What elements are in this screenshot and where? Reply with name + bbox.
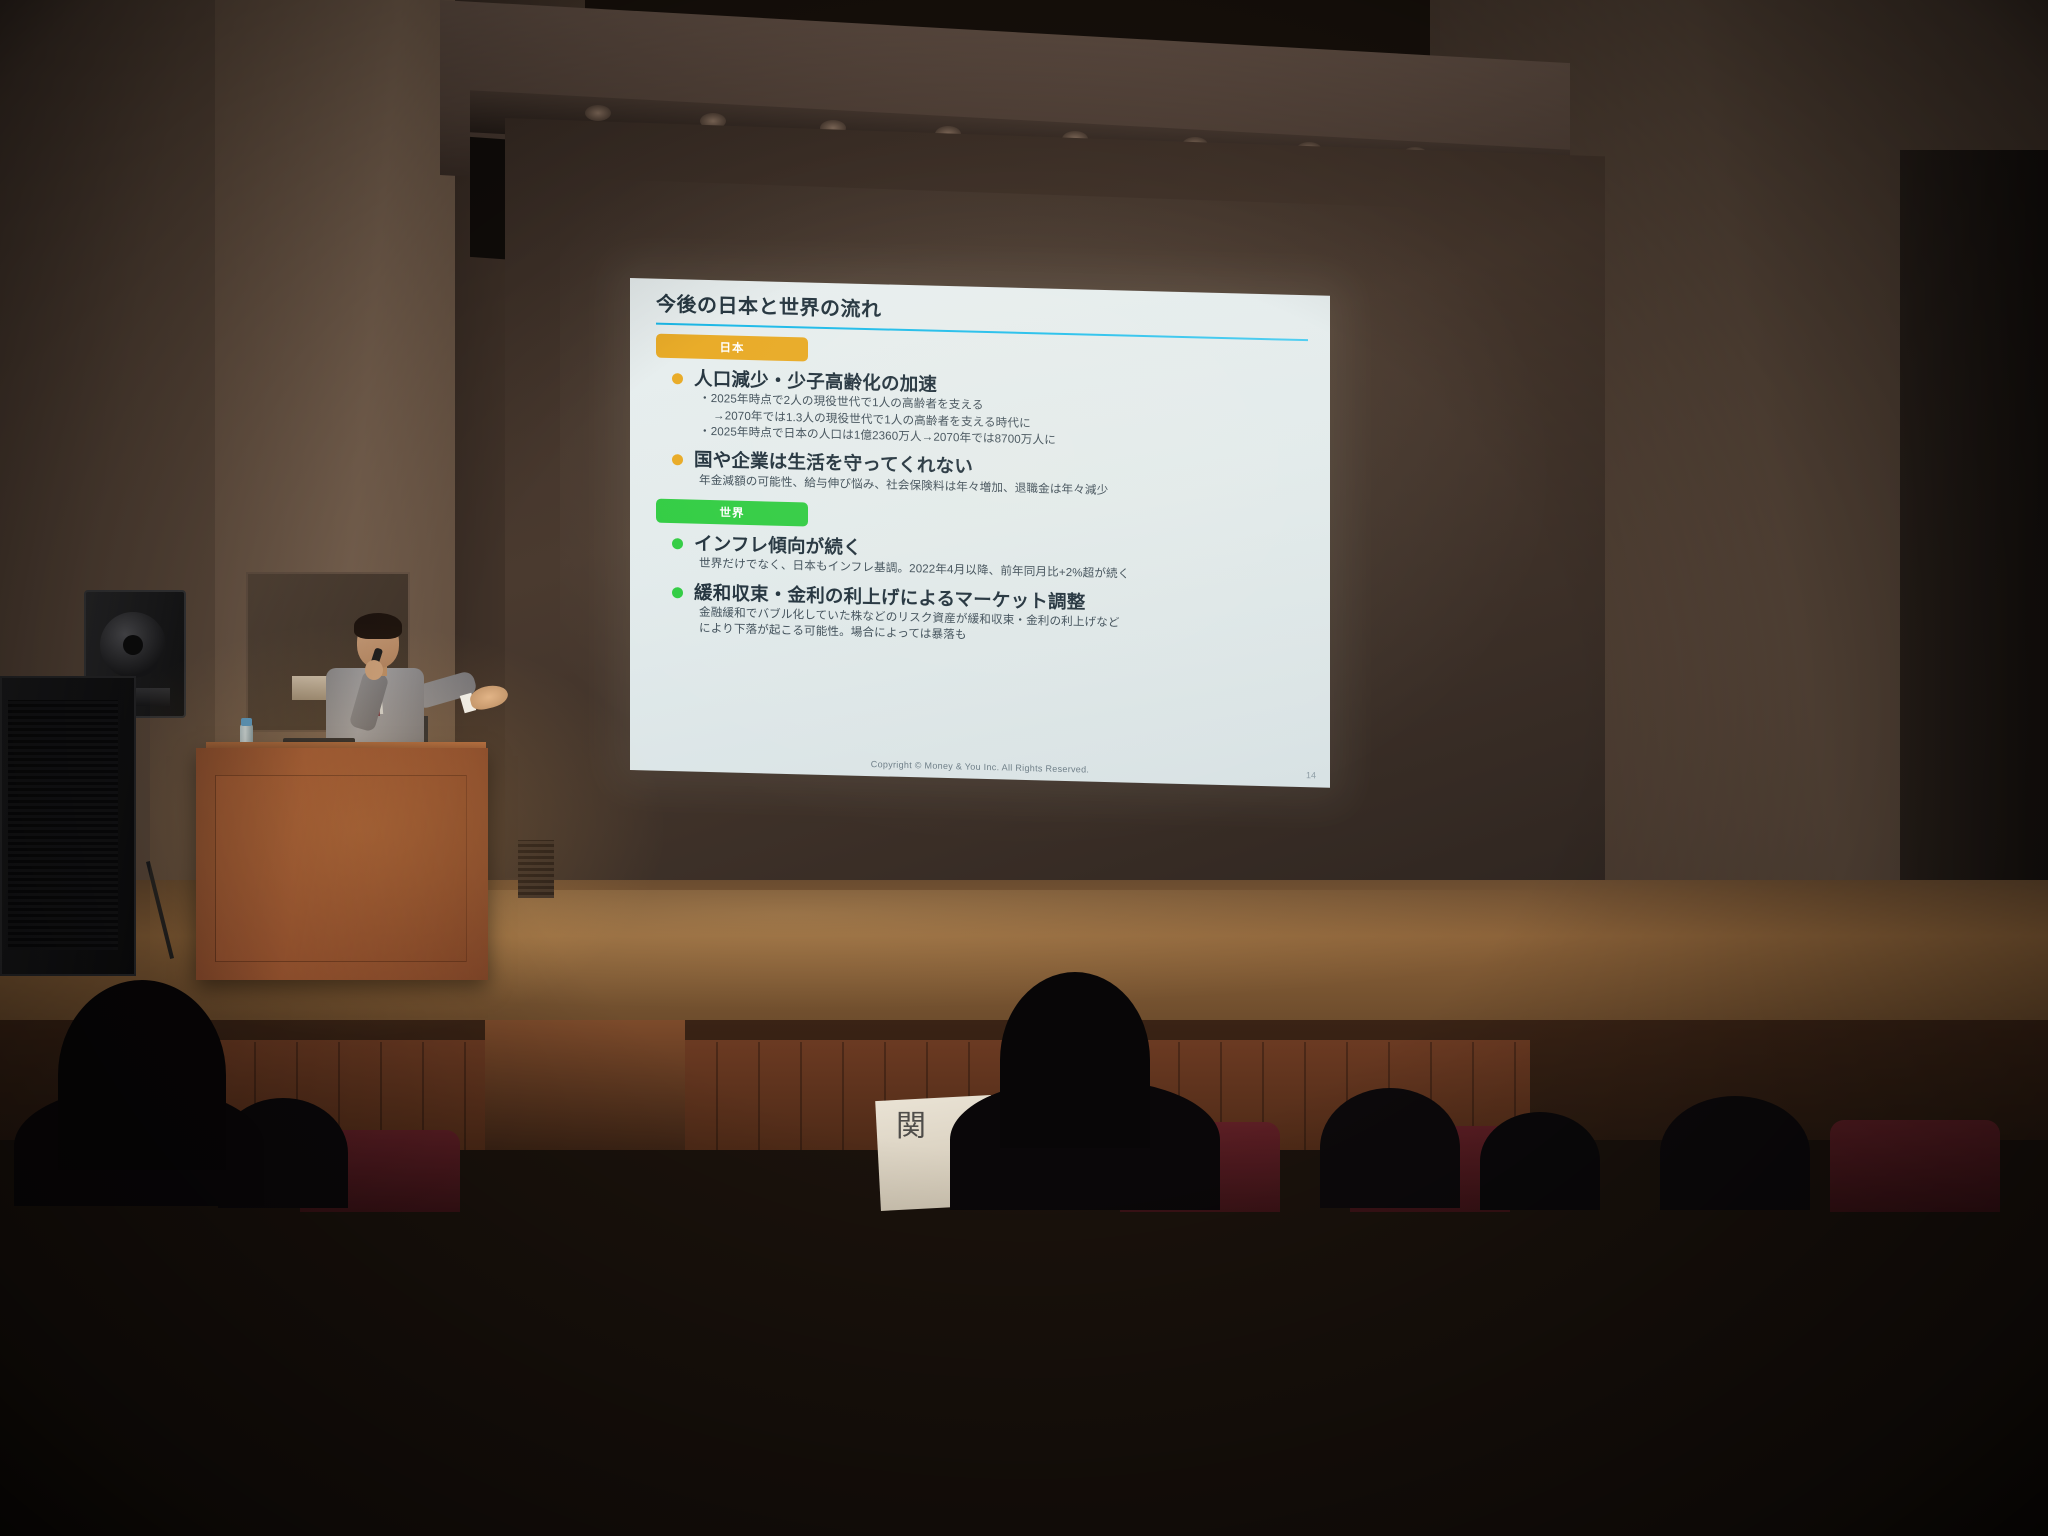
speaker-hair <box>354 613 402 639</box>
podium-front-panel <box>215 775 467 962</box>
slide-page-number: 14 <box>1306 770 1316 780</box>
bullet-heading: インフレ傾向が続く <box>694 532 862 559</box>
water-bottle-cap <box>241 718 252 726</box>
audience-head <box>1660 1096 1810 1210</box>
lecture-hall-photo: 今後の日本と世界の流れ 日本 人口減少・少子高齢化の加速 ・2025年時点で2人… <box>0 0 2048 1536</box>
audience-head <box>58 980 226 1170</box>
speaker-left-hand <box>365 660 383 680</box>
audience-head <box>1000 972 1150 1148</box>
stage-vent <box>518 840 554 898</box>
bullet-dot-icon <box>672 587 683 598</box>
pa-speaker-dust-cap <box>123 635 143 655</box>
stage-step <box>485 1020 685 1150</box>
ceiling-downlight-icon <box>585 105 611 121</box>
bullet-dot-icon <box>672 538 683 549</box>
bullet-dot-icon <box>672 455 683 466</box>
bullet-dot-icon <box>672 373 683 384</box>
auditorium-seat <box>1830 1120 2000 1212</box>
pa-subwoofer-grill <box>8 700 118 950</box>
hall-wall-far-right <box>1900 150 2048 1000</box>
chip-world: 世界 <box>656 499 808 527</box>
audience-head <box>1320 1088 1460 1208</box>
presentation-slide: 今後の日本と世界の流れ 日本 人口減少・少子高齢化の加速 ・2025年時点で2人… <box>630 278 1330 788</box>
chip-japan: 日本 <box>656 334 808 362</box>
audience-head <box>1480 1112 1600 1210</box>
